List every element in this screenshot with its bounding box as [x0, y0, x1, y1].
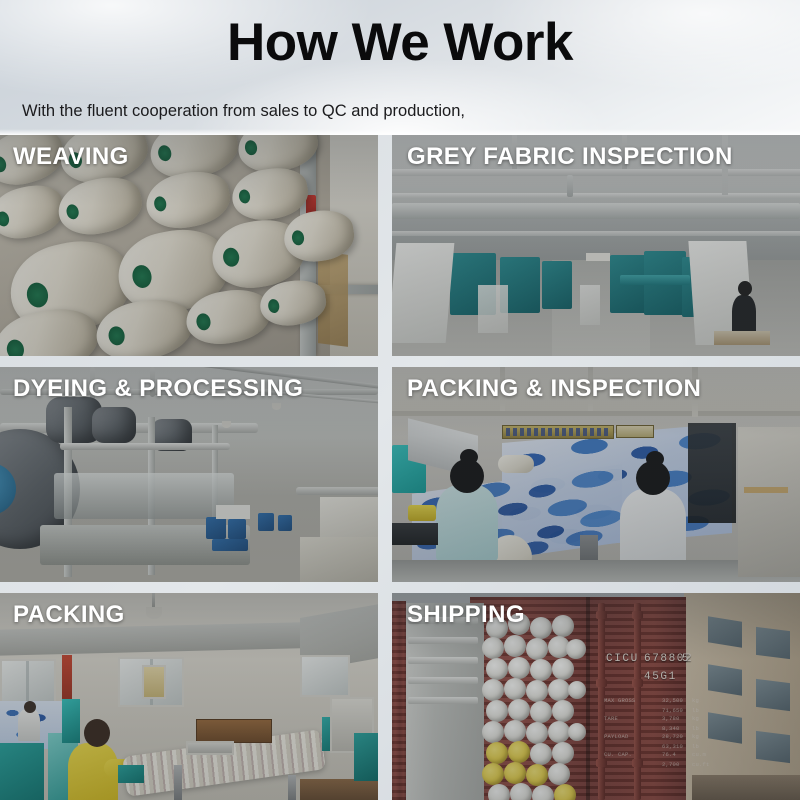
cell-label-dyeing-processing: DYEING & PROCESSING — [13, 374, 303, 404]
plate-row: 71,650lb — [604, 707, 694, 715]
process-cell-dyeing-processing[interactable]: DYEING & PROCESSING — [0, 367, 378, 582]
cell-label-shipping: SHIPPING — [407, 600, 525, 630]
process-cell-shipping[interactable]: CICU 678802 5 45G1 MAX GROSS32,500kg 71,… — [392, 593, 800, 800]
page-title: How We Work — [0, 14, 800, 72]
plate-row: CU. CAP.76.4cu.m — [604, 751, 694, 761]
how-we-work-page: How We Work With the fluent cooperation … — [0, 0, 800, 800]
cell-label-weaving: WEAVING — [13, 142, 129, 172]
process-cell-weaving[interactable]: WEAVING — [0, 135, 378, 356]
container-data-plate: MAX GROSS32,500kg 71,650lb TARE3,780kg 8… — [604, 697, 694, 769]
container-serial: 678802 — [644, 653, 693, 665]
container-owner-code: CICU — [606, 653, 639, 665]
process-cell-grey-fabric-inspection[interactable]: GREY FABRIC INSPECTION — [392, 135, 800, 356]
plate-row: 8,340lb — [604, 725, 694, 733]
plate-row: 2,700cu.ft — [604, 761, 694, 769]
container-check-digit: 5 — [682, 653, 690, 665]
subtitle-line-1: With the fluent cooperation from sales t… — [22, 99, 614, 124]
container-type-code: 45G1 — [644, 671, 677, 683]
page-subtitle: With the fluent cooperation from sales t… — [22, 74, 614, 135]
plate-row: PAYLOAD28,720kg — [604, 733, 694, 743]
process-grid: WEAVING — [0, 135, 800, 800]
plate-row: MAX GROSS32,500kg — [604, 697, 694, 707]
cell-label-packing: PACKING — [13, 600, 125, 630]
page-header: How We Work With the fluent cooperation … — [0, 0, 800, 135]
cell-label-grey-fabric-inspection: GREY FABRIC INSPECTION — [407, 142, 733, 172]
plate-row: 63,310lb — [604, 743, 694, 751]
process-cell-packing[interactable]: PACKING — [0, 593, 378, 800]
cell-label-packing-inspection: PACKING & INSPECTION — [407, 374, 701, 404]
plate-row: TARE3,780kg — [604, 715, 694, 725]
fabric-roll-stack — [482, 613, 588, 800]
process-cell-packing-inspection[interactable]: PACKING & INSPECTION — [392, 367, 800, 582]
